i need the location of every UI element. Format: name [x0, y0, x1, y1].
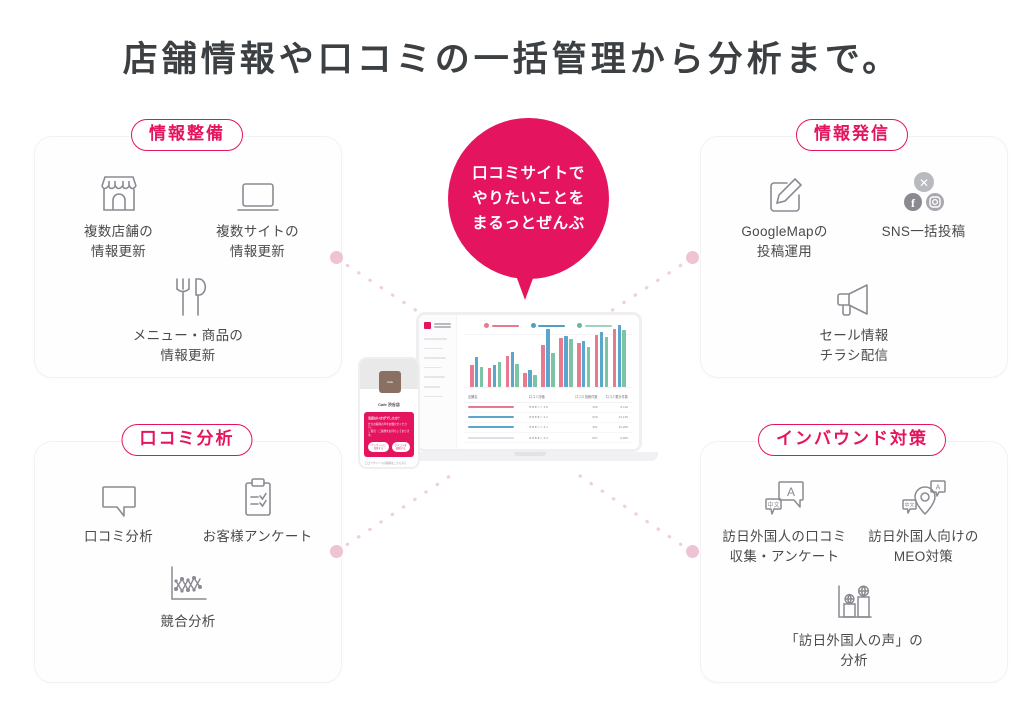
bar-group: [595, 332, 608, 387]
phone-mockup: Cafe Cafe 渋谷店 当店はいかがでしたか？ ぜひお客様の声をお聞かせくだ…: [358, 357, 420, 469]
bar-group: [488, 362, 501, 387]
badge-joho-hasshin: 情報発信: [796, 119, 908, 151]
total-cell: 13,135: [598, 415, 628, 419]
table-row: ★★★☆☆ 3.8 450 8,118: [464, 403, 632, 413]
posts-cell: 450: [567, 405, 597, 409]
dashboard-sidebar: [419, 315, 457, 449]
total-cell: 9,906: [598, 436, 628, 440]
bar-group: [613, 325, 626, 387]
total-cell: 8,118: [598, 405, 628, 409]
infographic-stage: 店舗情報や口コミの一括管理から分析まで。 情報整備: [0, 0, 1024, 722]
badge-joho-seibi: 情報整備: [131, 119, 243, 151]
survey-button[interactable]: アンケートに 回答する: [368, 442, 388, 452]
logo-mark-icon: [424, 322, 431, 329]
store-color-bar: [468, 406, 529, 408]
connector-dot-bottom-right: [686, 545, 699, 558]
table-row: ★★★☆☆ 3.1 361 10,296: [464, 423, 632, 433]
legend-item: [577, 323, 612, 328]
avatar-label: Cafe: [387, 380, 393, 384]
chart-legend: [464, 323, 632, 328]
dashboard-table: 店舗名 口コミ評価 口コミ投稿件数 口コミ累計件数 ★★★☆☆ 3.8 450 …: [464, 394, 632, 443]
total-cell: 10,296: [598, 425, 628, 429]
bar-group: [506, 352, 519, 387]
laptop-mockup: 店舗名 口コミ評価 口コミ投稿件数 口コミ累計件数 ★★★☆☆ 3.8 450 …: [402, 312, 658, 472]
store-color-bar: [468, 426, 529, 428]
shop-name: Cafe 渋谷店: [360, 402, 418, 408]
dashboard-nav[interactable]: [424, 338, 451, 397]
table-row: ★★★★☆ 4.3 607 9,906: [464, 433, 632, 443]
bar-group: [559, 336, 572, 387]
rating-cell: ★★★★☆ 4.2: [529, 415, 567, 419]
rating-cell: ★★★☆☆ 3.8: [529, 405, 567, 409]
device-mockup: 店舗名 口コミ評価 口コミ投稿件数 口コミ累計件数 ★★★☆☆ 3.8 450 …: [358, 312, 658, 482]
laptop-notch: [514, 452, 546, 456]
center-balloon: 口コミサイトで やりたいことを まるっとぜんぶ: [448, 118, 609, 279]
connector-dot-top-right: [686, 251, 699, 264]
bar-group: [541, 329, 554, 387]
review-link-row[interactable]: Facebook クチコミ投稿: [364, 467, 414, 469]
column-header: 口コミ累計件数: [598, 394, 628, 399]
bar-group: [523, 370, 536, 387]
dashboard-bar-chart: [464, 334, 632, 388]
phone-hero-image: Cafe: [360, 359, 418, 389]
prompt-body: ぜひお客様の声をお聞かせください。 ご意見・ご感想をお待ちしております。: [368, 423, 410, 439]
posts-cell: 607: [567, 436, 597, 440]
connector-dot-top-left: [330, 251, 343, 264]
dashboard: 店舗名 口コミ評価 口コミ投稿件数 口コミ累計件数 ★★★☆☆ 3.8 450 …: [419, 315, 639, 449]
dashboard-main: 店舗名 口コミ評価 口コミ投稿件数 口コミ累計件数 ★★★☆☆ 3.8 450 …: [457, 315, 639, 449]
prompt-title: 当店はいかがでしたか？: [368, 416, 410, 421]
bar-group: [470, 357, 483, 387]
bar-group: [577, 341, 590, 387]
rating-cell: ★★★☆☆ 3.1: [529, 425, 567, 429]
badge-kuchikomi-bunseki: 口コミ分析: [122, 424, 253, 456]
review-button[interactable]: クチコミを 投稿する: [392, 442, 410, 452]
badge-inbound-taisaku: インバウンド対策: [758, 424, 946, 456]
survey-prompt-card: 当店はいかがでしたか？ ぜひお客様の声をお聞かせください。 ご意見・ご感想をお待…: [364, 412, 414, 457]
posts-cell: 361: [567, 425, 597, 429]
legend-item: [531, 323, 566, 328]
store-color-bar: [468, 416, 529, 418]
prompt-buttons: アンケートに 回答する クチコミを 投稿する: [368, 442, 410, 452]
balloon-text: 口コミサイトで やりたいことを まるっとぜんぶ: [448, 118, 609, 279]
column-header: 口コミ評価: [529, 394, 567, 399]
links-caption: 口コミサイトへの投稿はこちらから: [365, 461, 413, 465]
rating-cell: ★★★★☆ 4.3: [529, 436, 567, 440]
dashboard-logo: [424, 322, 451, 329]
column-header: 口コミ投稿件数: [567, 394, 597, 399]
legend-item: [484, 323, 519, 328]
logo-wordmark: [434, 323, 451, 328]
column-header: 店舗名: [468, 394, 529, 399]
connector-dot-bottom-left: [330, 545, 343, 558]
shop-avatar: Cafe: [379, 371, 401, 393]
laptop-screen: 店舗名 口コミ評価 口コミ投稿件数 口コミ累計件数 ★★★☆☆ 3.8 450 …: [416, 312, 642, 452]
store-color-bar: [468, 437, 529, 439]
posts-cell: 640: [567, 415, 597, 419]
table-header: 店舗名 口コミ評価 口コミ投稿件数 口コミ累計件数: [464, 394, 632, 403]
table-row: ★★★★☆ 4.2 640 13,135: [464, 413, 632, 423]
